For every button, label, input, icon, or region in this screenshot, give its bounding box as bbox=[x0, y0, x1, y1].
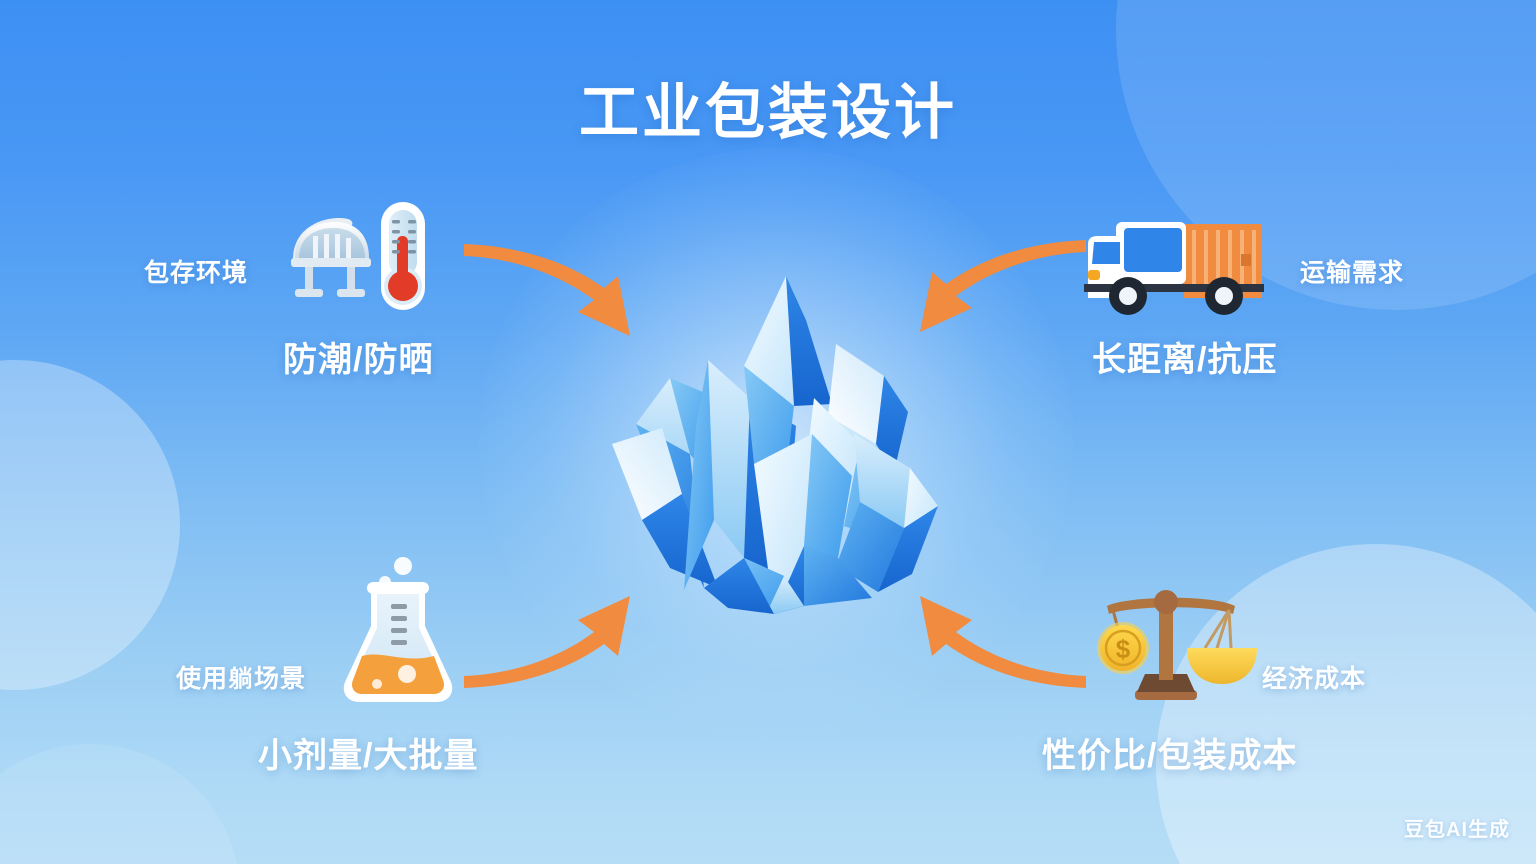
label-moisture-sun-proof: 防潮/防晒 bbox=[283, 332, 433, 381]
bubble-icon bbox=[394, 557, 412, 575]
gold-coin-icon: $ bbox=[1097, 622, 1149, 674]
decorative-circle-bottom-left bbox=[0, 744, 240, 864]
arrow-top-right-to-center bbox=[898, 232, 1098, 350]
transport-icons bbox=[1080, 208, 1272, 325]
label-storage-environment: 包存环境 bbox=[144, 253, 248, 289]
usage-scenario-text-part1: 使用 bbox=[176, 665, 228, 693]
poster-canvas: 工业包装设计 bbox=[0, 0, 1536, 864]
label-economic-cost: 经济成本 bbox=[1262, 659, 1366, 695]
erlenmeyer-flask-icon bbox=[333, 556, 463, 706]
page-title: 工业包装设计 bbox=[0, 64, 1536, 151]
label-long-distance-compression: 长距离/抗压 bbox=[1092, 332, 1277, 381]
balance-scale-icon: $ bbox=[1083, 586, 1265, 702]
decorative-circle-left bbox=[0, 360, 180, 690]
label-cost-performance: 性价比/包装成本 bbox=[1042, 728, 1297, 777]
delivery-truck-icon bbox=[1080, 208, 1272, 320]
arrow-top-left-to-center bbox=[452, 236, 652, 354]
warehouse-dome-icon bbox=[291, 218, 371, 297]
economic-cost-icons: $ bbox=[1083, 586, 1265, 707]
crystal-cluster-svg bbox=[608, 258, 944, 624]
label-small-large-batch: 小剂量/大批量 bbox=[258, 728, 478, 777]
arrow-bottom-right-to-center bbox=[898, 578, 1098, 696]
usage-scenario-icons bbox=[333, 556, 463, 711]
label-usage-scenario: 使用躺场景 bbox=[176, 659, 306, 695]
distorted-glyph: 躺 bbox=[229, 660, 254, 693]
svg-text:$: $ bbox=[1116, 634, 1131, 664]
storage-environment-icons bbox=[277, 196, 447, 321]
crystal-cluster-icon bbox=[608, 258, 944, 624]
ai-watermark: 豆包AI生成 bbox=[1404, 813, 1510, 842]
thermometer-icon bbox=[381, 202, 425, 310]
usage-scenario-text-part2: 场景 bbox=[254, 665, 306, 693]
arrow-bottom-left-to-center bbox=[452, 578, 652, 696]
label-transport-demand: 运输需求 bbox=[1300, 253, 1404, 289]
warehouse-thermometer-svg bbox=[277, 196, 447, 316]
